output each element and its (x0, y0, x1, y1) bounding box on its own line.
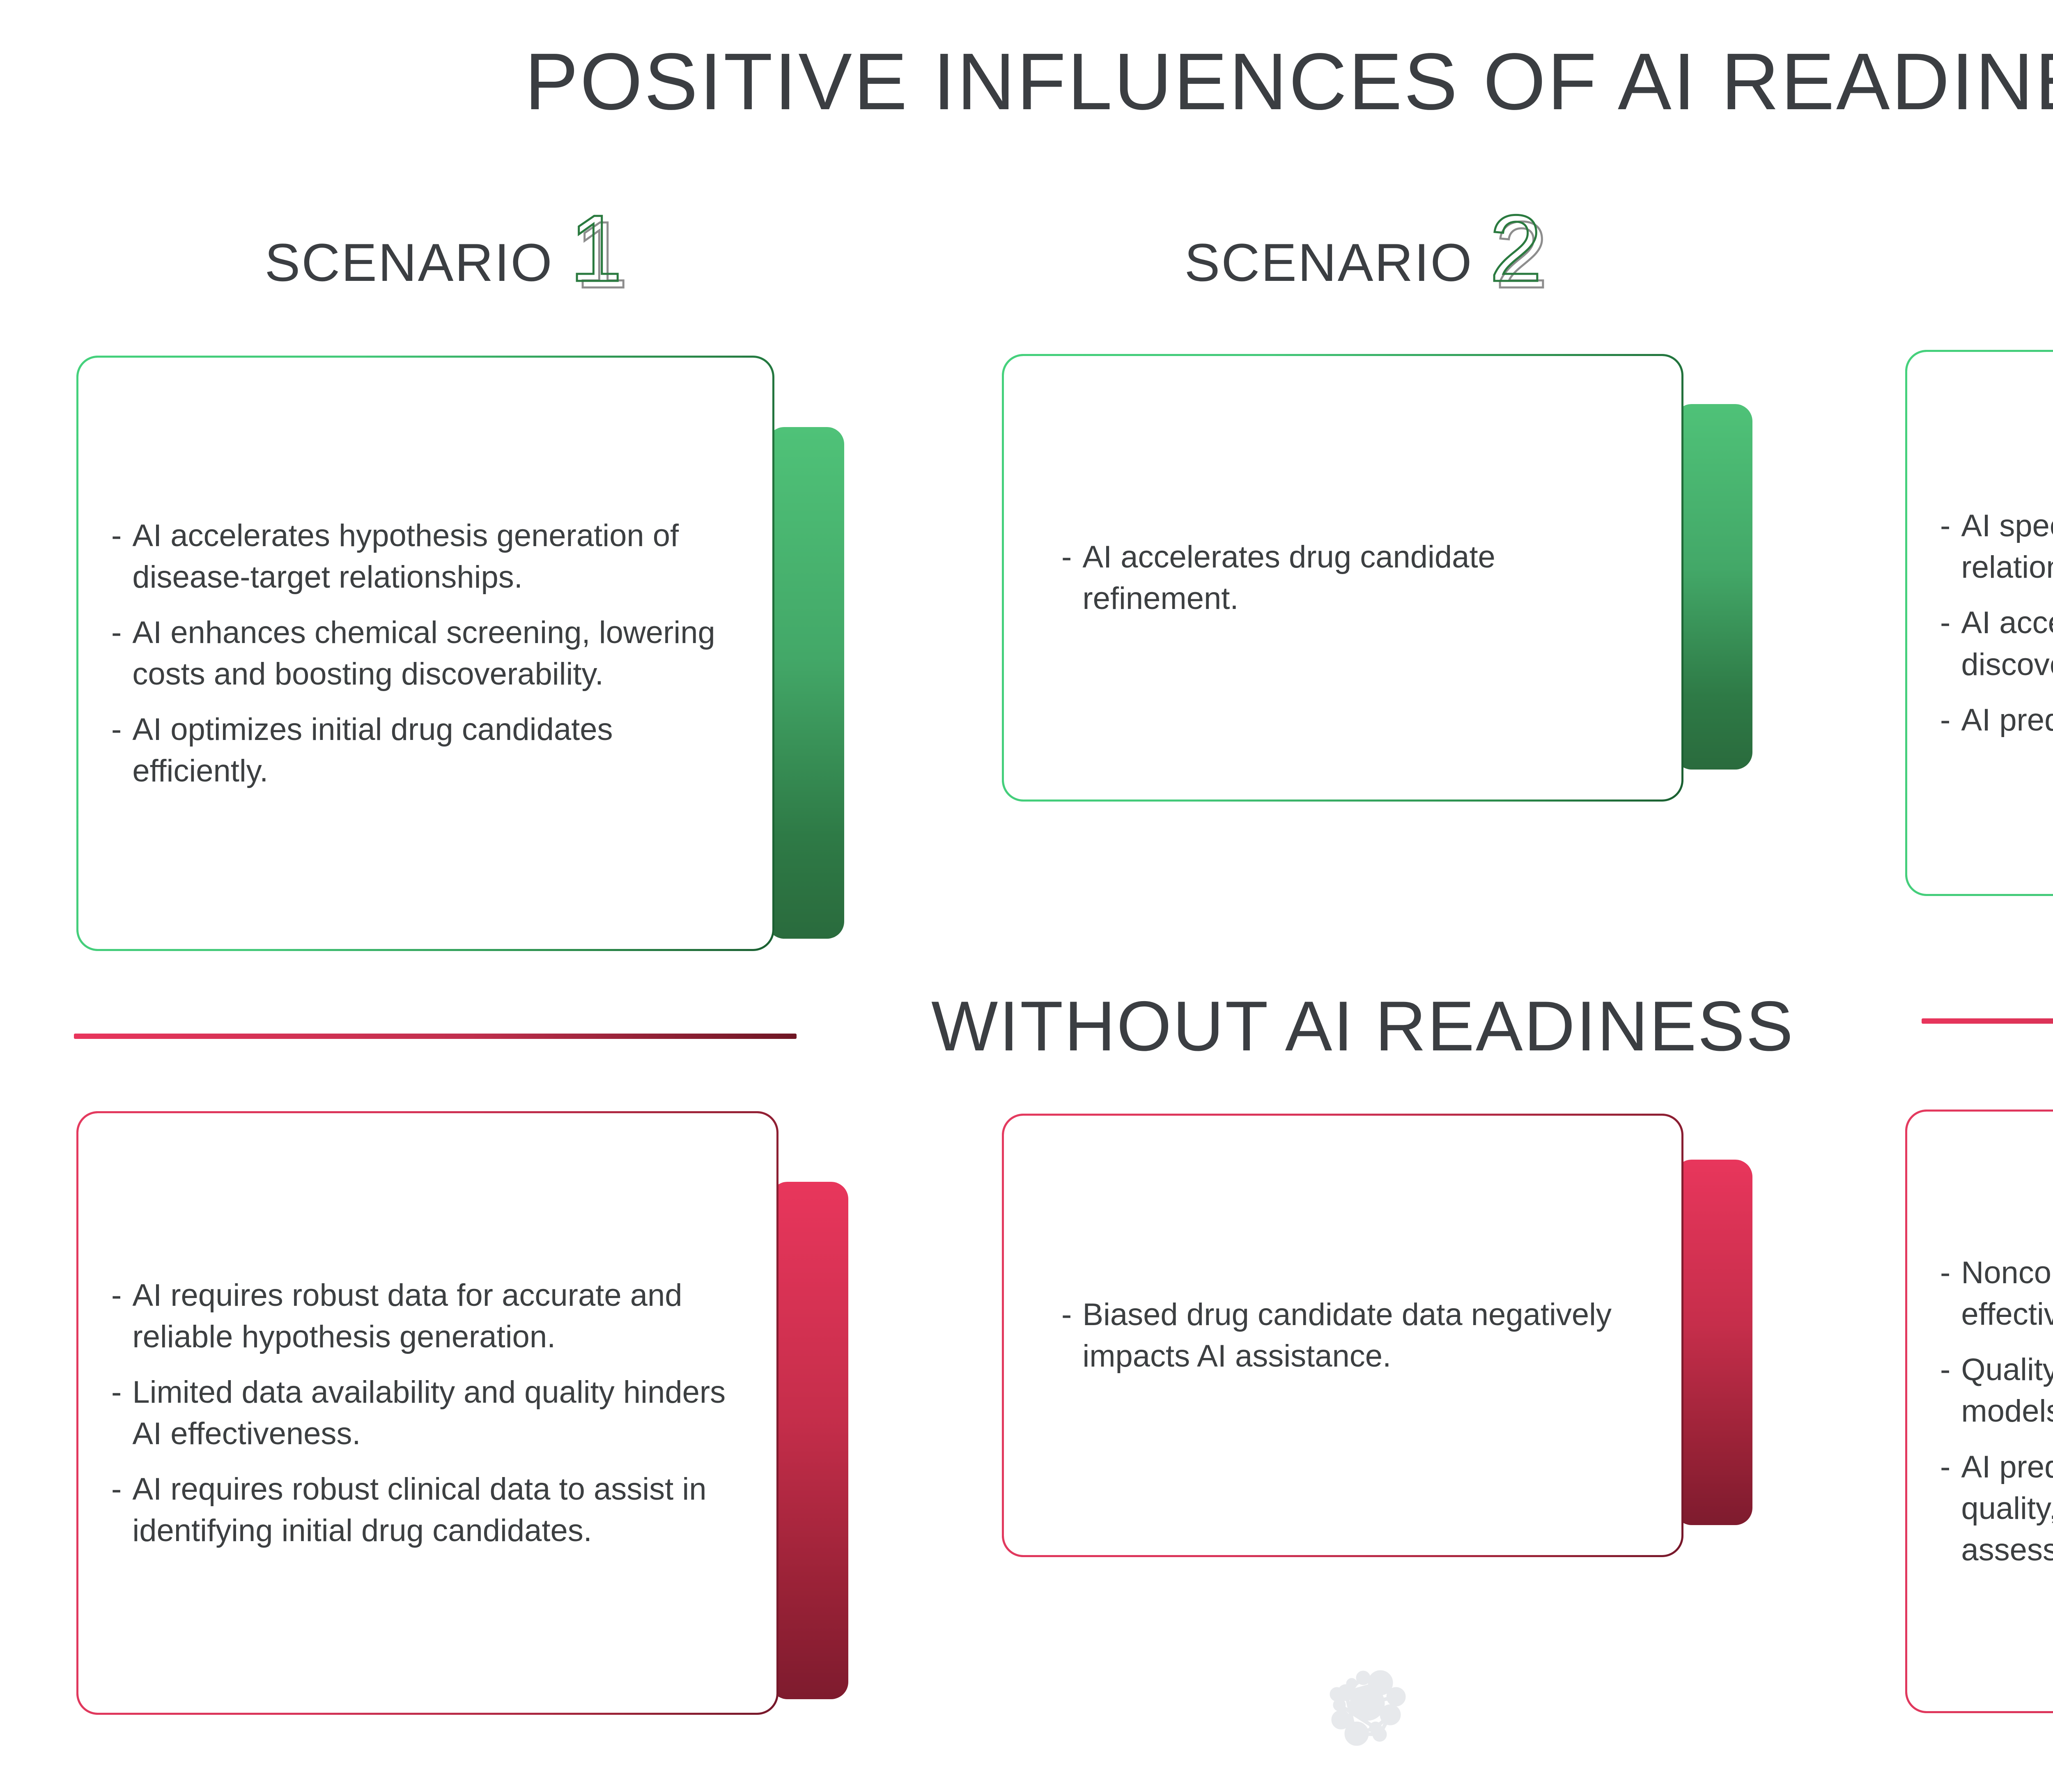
negative-card-3[interactable]: - Noncomprehensive data sets hinder AI e… (1905, 1110, 2053, 1713)
scenario-header-3: SCENARIO 3 (1938, 201, 2053, 296)
list-item: - Quality data is crucial for training A… (1940, 1349, 2053, 1432)
scenario-number-1: 1 (570, 201, 622, 296)
list-item: - AI requires robust data for accurate a… (111, 1275, 748, 1358)
page-title: POSITIVE INFLUENCES OF AI READINESS (0, 35, 2053, 128)
negative-card-1[interactable]: - AI requires robust data for accurate a… (76, 1111, 778, 1715)
positive-card-3-wrap: - AI speeds up discovery of disease-targ… (1905, 350, 2053, 912)
bullet-dash: - (111, 1468, 122, 1510)
negative-card-2-wrap: - Biased drug candidate data negatively … (1002, 1114, 1753, 1574)
bullet-dash: - (111, 612, 122, 653)
bullet-text: AI speeds up discovery of disease-target… (1961, 505, 2053, 588)
list-item: - AI enhances chemical screening, loweri… (111, 612, 744, 695)
bullet-text: Biased drug candidate data negatively im… (1082, 1294, 1632, 1377)
scenario-header-1: SCENARIO 1 (99, 201, 788, 296)
positive-card-1-wrap: - AI accelerates hypothesis generation o… (76, 356, 844, 972)
negative-card-3-list: - Noncomprehensive data sets hinder AI e… (1907, 1252, 2053, 1571)
list-item: - AI speeds up discovery of disease-targ… (1940, 505, 2053, 588)
positive-card-3-list: - AI speeds up discovery of disease-targ… (1907, 505, 2053, 740)
positive-card-1-list: - AI accelerates hypothesis generation o… (78, 515, 772, 792)
positive-card-3[interactable]: - AI speeds up discovery of disease-targ… (1905, 350, 2053, 896)
bullet-text: AI optimizes initial drug candidates eff… (132, 709, 744, 792)
bullet-dash: - (1940, 1349, 1950, 1390)
divider-left (74, 1034, 797, 1039)
bullet-dash: - (1940, 1446, 1950, 1488)
bullet-dash: - (111, 515, 122, 556)
bullet-dash: - (1940, 699, 1950, 741)
scenario-header-2: SCENARIO 2 (994, 201, 1733, 296)
bullet-text: Quality data is crucial for training AI … (1961, 1349, 2053, 1432)
list-item: - Noncomprehensive data sets hinder AI e… (1940, 1252, 2053, 1335)
list-item: - AI optimizes initial drug candidates e… (111, 709, 744, 792)
scenario-label-1: SCENARIO (265, 232, 553, 293)
bullet-dash: - (111, 1275, 122, 1316)
list-item: - AI accelerates target-molecule relatio… (1940, 602, 2053, 685)
positive-card-2[interactable]: - AI accelerates drug candidate refineme… (1002, 354, 1683, 802)
negative-card-1-shadow (770, 1182, 848, 1699)
negative-card-1-list: - AI requires robust data for accurate a… (78, 1275, 776, 1551)
scenario-label-2: SCENARIO (1185, 232, 1473, 293)
list-item: - AI prediction accuracy depends on data… (1940, 1446, 2053, 1571)
bullet-text: AI accelerates hypothesis generation of … (132, 515, 744, 598)
positive-card-2-wrap: - AI accelerates drug candidate refineme… (1002, 354, 1753, 814)
bullet-text: AI accelerates target-molecule relations… (1961, 602, 2053, 685)
bullet-dash: - (1061, 536, 1072, 578)
list-item: - AI accelerates drug candidate refineme… (1061, 536, 1632, 619)
negative-card-2-shadow (1674, 1160, 1752, 1525)
negative-card-1-wrap: - AI requires robust data for accurate a… (76, 1111, 848, 1735)
bullet-text: AI requires robust data for accurate and… (132, 1275, 748, 1358)
negative-card-2-list: - Biased drug candidate data negatively … (1004, 1294, 1681, 1377)
positive-card-1-shadow (767, 427, 844, 939)
positive-card-1[interactable]: - AI accelerates hypothesis generation o… (76, 356, 774, 951)
bullet-text: AI predicts compound testing priorities. (1961, 699, 2053, 741)
negative-card-2[interactable]: - Biased drug candidate data negatively … (1002, 1114, 1683, 1557)
list-item: - AI requires robust clinical data to as… (111, 1468, 748, 1551)
bullet-dash: - (1940, 505, 1950, 547)
bullet-text: Limited data availability and quality hi… (132, 1372, 748, 1454)
list-item: - Limited data availability and quality … (111, 1372, 748, 1454)
bullet-dash: - (111, 709, 122, 750)
negative-card-3-wrap: - Noncomprehensive data sets hinder AI e… (1905, 1110, 2053, 1734)
divider-right (1922, 1018, 2053, 1024)
bullet-text: AI prediction accuracy depends on data q… (1961, 1446, 2053, 1571)
molecular-network-logo-icon (1314, 1659, 1425, 1762)
bullet-dash: - (1940, 602, 1950, 643)
list-item: - AI accelerates hypothesis generation o… (111, 515, 744, 598)
scenario-number-2: 2 (1490, 201, 1542, 296)
bullet-text: AI accelerates drug candidate refinement… (1082, 536, 1632, 619)
bullet-dash: - (1940, 1252, 1950, 1293)
bullet-dash: - (111, 1372, 122, 1413)
bullet-text: AI requires robust clinical data to assi… (132, 1468, 748, 1551)
band-title: WITHOUT AI READINESS (0, 986, 2053, 1067)
list-item: - Biased drug candidate data negatively … (1061, 1294, 1632, 1377)
bullet-text: AI enhances chemical screening, lowering… (132, 612, 744, 695)
positive-card-2-list: - AI accelerates drug candidate refineme… (1004, 536, 1681, 619)
bullet-text: Noncomprehensive data sets hinder AI eff… (1961, 1252, 2053, 1335)
bullet-dash: - (1061, 1294, 1072, 1335)
list-item: - AI predicts compound testing prioritie… (1940, 699, 2053, 741)
positive-card-2-shadow (1674, 404, 1752, 770)
